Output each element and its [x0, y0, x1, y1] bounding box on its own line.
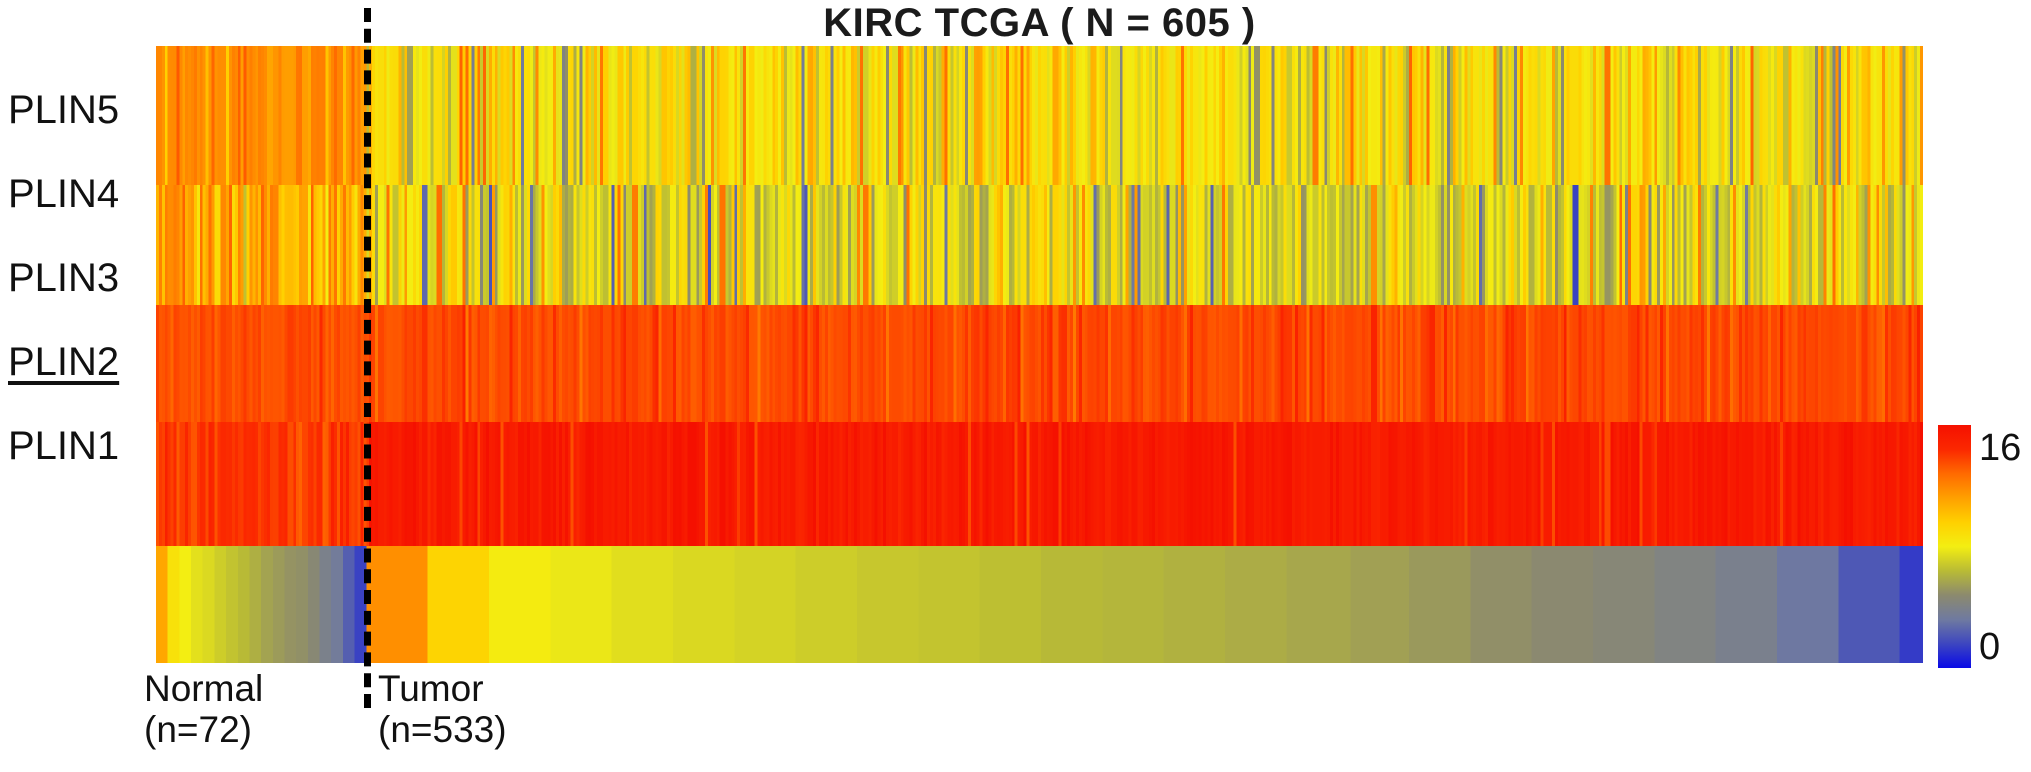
- heatmap-row-plin5: [156, 46, 1923, 185]
- colorbar-max-label: 16: [1979, 429, 2021, 467]
- heatmap-row-plin2: [156, 422, 1923, 546]
- heatmap-canvas-plin4: [156, 185, 1923, 305]
- colorbar-legend: 16 0: [1938, 425, 2028, 675]
- group-label-normal-count: (n=72): [144, 709, 263, 750]
- group-label-tumor-count: (n=533): [378, 709, 507, 750]
- group-label-tumor: Tumor (n=533): [378, 668, 507, 750]
- heatmap-canvas-plin3: [156, 305, 1923, 422]
- heatmap-figure: KIRC TCGA ( N = 605 ) PLIN5 PLIN4 PLIN3 …: [0, 0, 2031, 772]
- row-label-plin4: PLIN4: [8, 172, 152, 217]
- heatmap-canvas-plin2: [156, 422, 1923, 546]
- heatmap-plot-area: [156, 46, 1923, 663]
- row-label-plin1: PLIN1: [8, 424, 152, 469]
- group-label-tumor-name: Tumor: [378, 668, 484, 709]
- normal-tumor-divider: [364, 8, 371, 708]
- group-label-normal: Normal (n=72): [144, 668, 263, 750]
- colorbar-min-label: 0: [1979, 628, 2000, 666]
- page-title: KIRC TCGA ( N = 605 ): [156, 2, 1923, 44]
- heatmap-canvas-plin1: [156, 546, 1923, 663]
- row-label-plin2: PLIN2: [8, 340, 152, 385]
- heatmap-row-plin3: [156, 305, 1923, 422]
- heatmap-row-plin1: [156, 546, 1923, 663]
- row-label-plin3: PLIN3: [8, 256, 152, 301]
- row-label-plin5: PLIN5: [8, 88, 152, 133]
- heatmap-row-plin4: [156, 185, 1923, 305]
- heatmap-canvas-plin5: [156, 46, 1923, 185]
- group-label-normal-name: Normal: [144, 668, 263, 709]
- colorbar-gradient: [1938, 425, 1971, 668]
